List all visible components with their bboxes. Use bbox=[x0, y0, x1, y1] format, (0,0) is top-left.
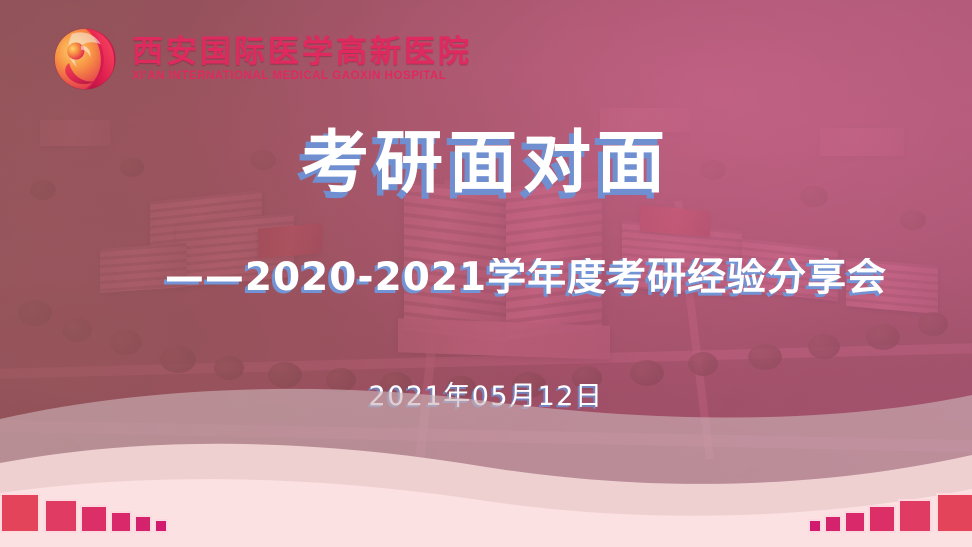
hospital-emblem-icon bbox=[52, 26, 118, 92]
decor-square bbox=[0, 493, 40, 533]
decor-square bbox=[110, 511, 132, 533]
decor-square bbox=[134, 515, 152, 533]
decor-square bbox=[154, 519, 168, 533]
decor-square bbox=[898, 499, 932, 533]
decor-square bbox=[80, 505, 108, 533]
decor-square bbox=[808, 519, 822, 533]
decor-square bbox=[936, 493, 972, 533]
hospital-logo: 西安国际医学高新医院 XI'AN INTERNATIONAL MEDICAL G… bbox=[52, 26, 472, 92]
bottom-square-decoration bbox=[0, 487, 972, 547]
logo-chinese-name: 西安国际医学高新医院 bbox=[132, 36, 472, 69]
logo-text: 西安国际医学高新医院 XI'AN INTERNATIONAL MEDICAL G… bbox=[132, 36, 472, 83]
decor-square bbox=[868, 505, 896, 533]
decor-square bbox=[44, 499, 78, 533]
decor-square bbox=[824, 515, 842, 533]
decor-square bbox=[844, 511, 866, 533]
logo-english-name: XI'AN INTERNATIONAL MEDICAL GAOXIN HOSPI… bbox=[132, 70, 472, 82]
presentation-slide: 西安国际医学高新医院 XI'AN INTERNATIONAL MEDICAL G… bbox=[0, 0, 972, 547]
